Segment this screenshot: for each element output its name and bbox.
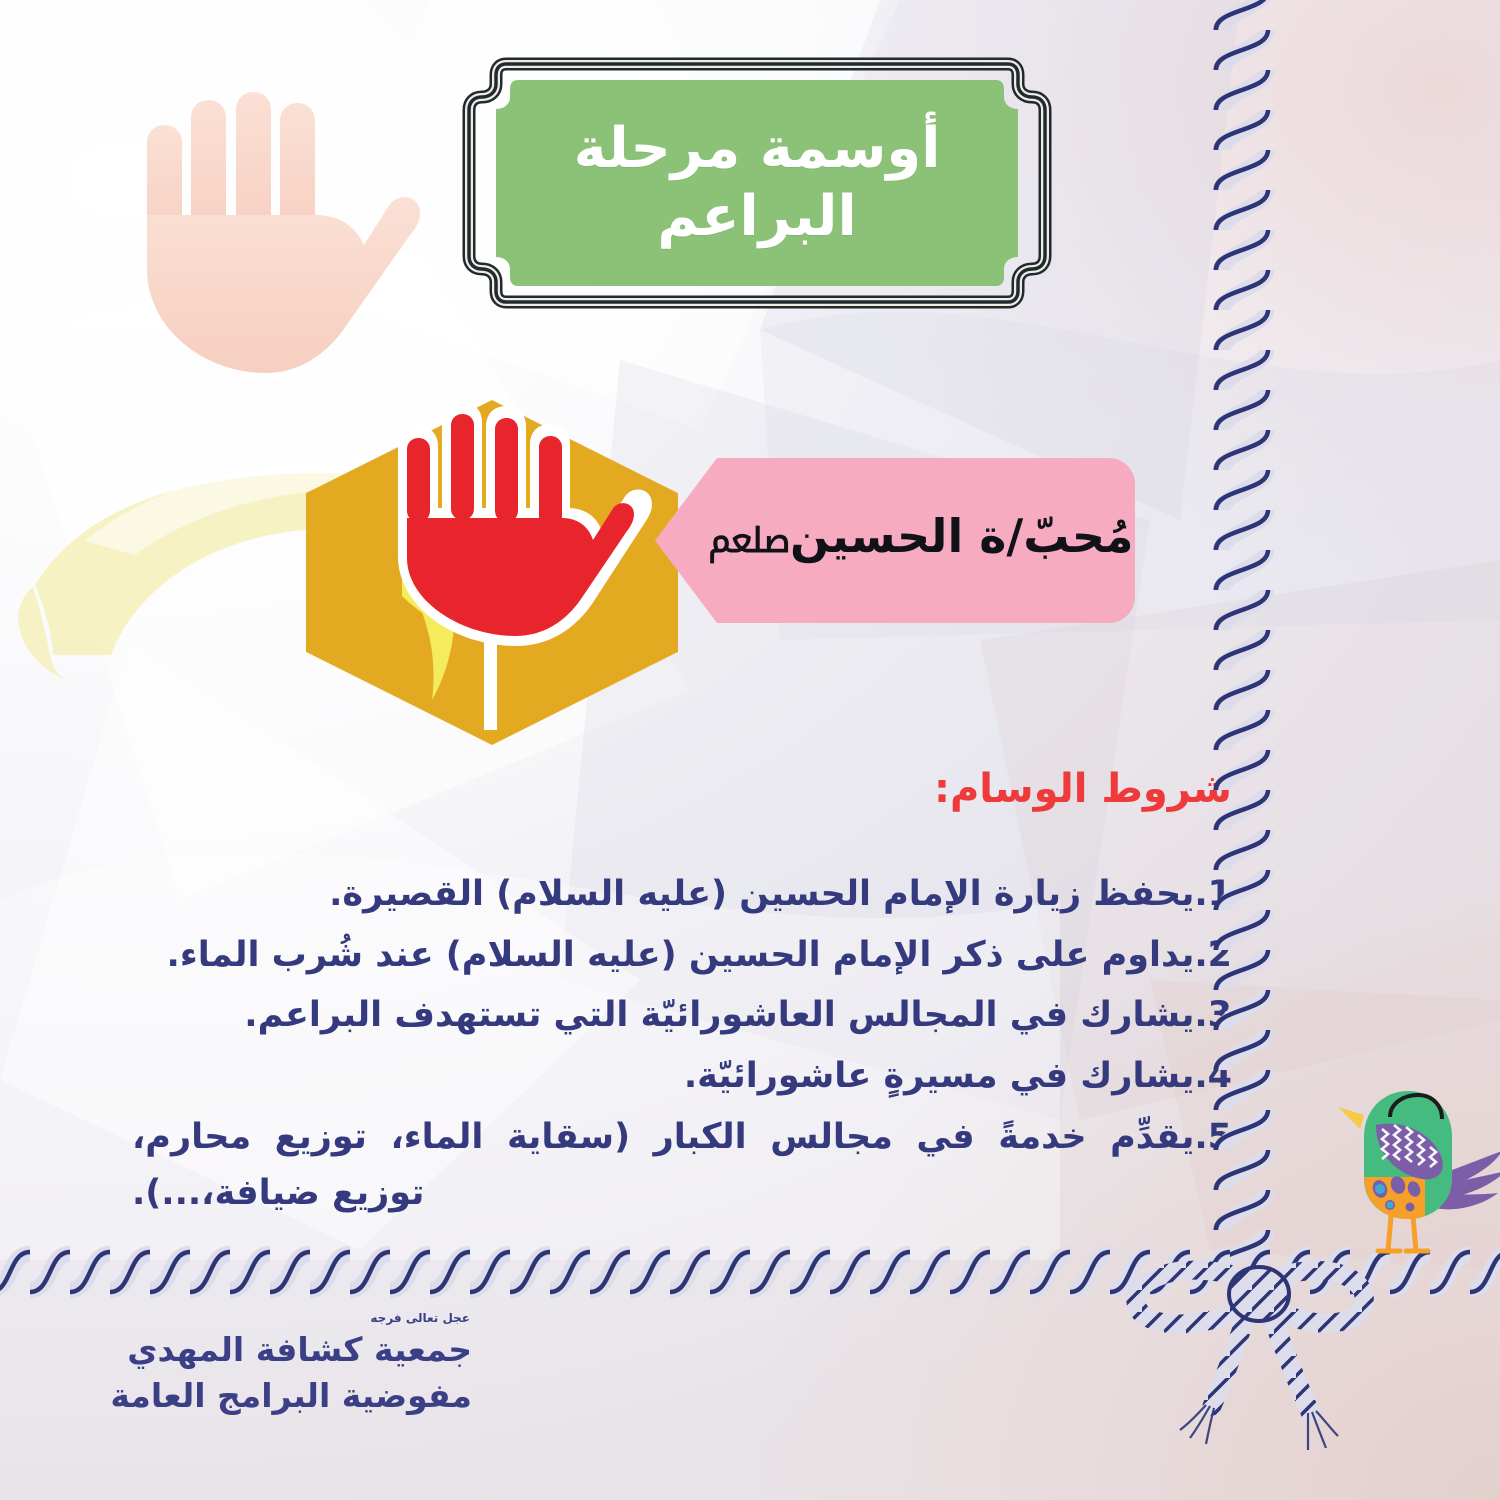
footer-honorific: عجل تعالى فرجه <box>370 1311 470 1325</box>
watermark-hand <box>120 55 420 455</box>
condition-item-2: 2.يداوم على ذكر الإمام الحسين (عليه السل… <box>132 927 1232 984</box>
title-plaque: أوسمة مرحلة البراعم <box>462 48 1052 318</box>
title-line-1: أوسمة مرحلة <box>574 115 941 183</box>
condition-item-3: 3.يشارك في المجالس العاشورائيّة التي تست… <box>132 987 1232 1044</box>
badge-name-text: مُحبّ/ة الحسينﷵ <box>708 508 1133 573</box>
badge-name-main: مُحبّ/ة الحسين <box>790 509 1133 563</box>
vertical-rope <box>1210 0 1274 1280</box>
condition-item-1: 1.يحفظ زيارة الإمام الحسين (عليه السلام)… <box>132 866 1232 923</box>
plaque-title-text: أوسمة مرحلة البراعم <box>462 48 1052 318</box>
badge-hand-alam-icon <box>306 400 678 745</box>
title-line-2: البراعم <box>657 183 856 251</box>
footer-line-1: جمعية كشافة المهدي <box>127 1330 472 1369</box>
badge-name-label: مُحبّ/ة الحسينﷵ <box>655 458 1135 623</box>
green-bird-illustration <box>1330 1085 1500 1275</box>
conditions-list: 1.يحفظ زيارة الإمام الحسين (عليه السلام)… <box>132 866 1232 1226</box>
poster-canvas: أوسمة مرحلة البراعم م <box>0 0 1500 1500</box>
conditions-heading: شروط الوسام: <box>934 766 1232 812</box>
footer-org-name: عجل تعالى فرجه جمعية كشافة المهدي <box>127 1330 472 1370</box>
badge-name-honorific: ﷵ <box>708 521 790 561</box>
condition-item-5: 5.يقدِّم خدمةً في مجالس الكبار (سقاية ال… <box>132 1109 1232 1222</box>
footer-branding: عجل تعالى فرجه جمعية كشافة المهدي مفوضية… <box>52 1330 472 1415</box>
footer-line-2: مفوضية البرامج العامة <box>52 1376 472 1416</box>
condition-item-4: 4.يشارك في مسيرةٍ عاشورائيّة. <box>132 1048 1232 1105</box>
